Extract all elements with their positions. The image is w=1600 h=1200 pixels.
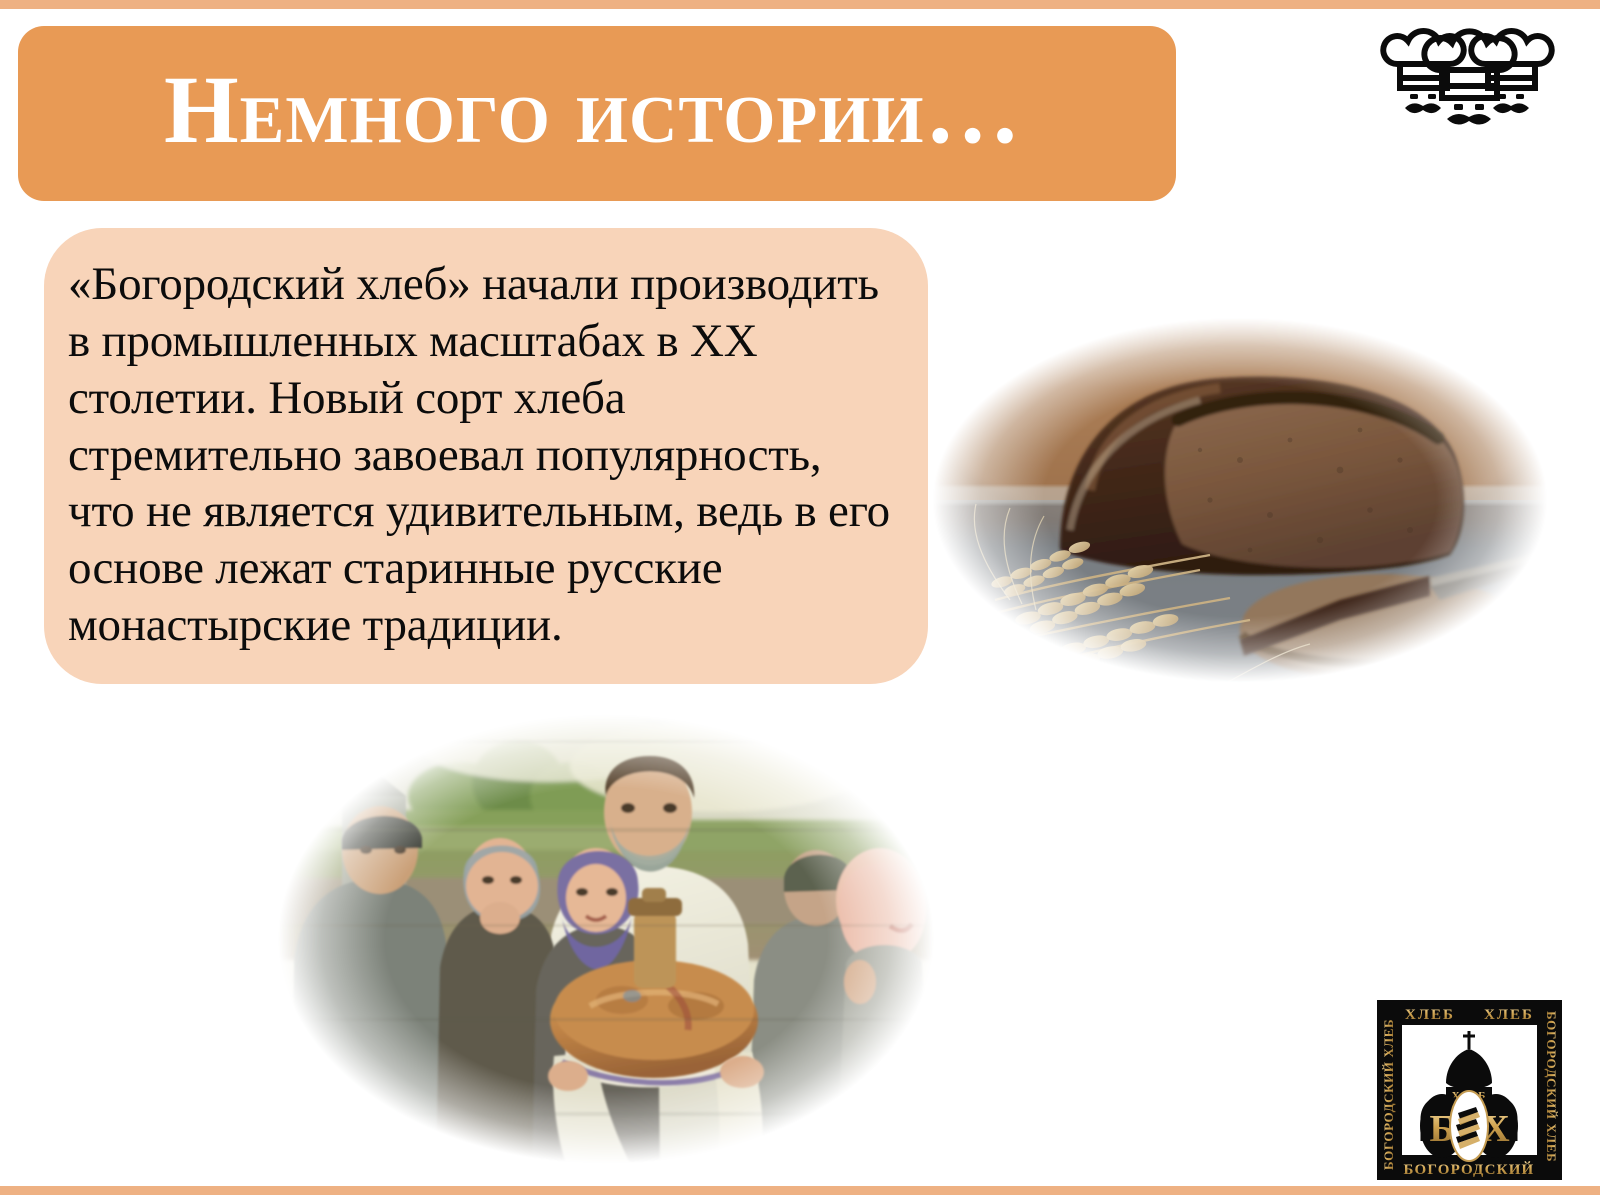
logo-bottom-text: БОГОРОДСКИЙ (1404, 1161, 1535, 1178)
chef-hats-icon (1372, 22, 1562, 126)
title-banner: Немного истории… (18, 26, 1176, 201)
page-title: Немного истории… (164, 62, 1021, 158)
body-paragraph: «Богородский хлеб» начали производить в … (68, 256, 898, 654)
rye-bread-loaf-photo (910, 300, 1570, 700)
bogorodsky-hleb-logo: ХЛЕБ ХЛЕБ БОГОРОДСКИЙ БОГОРОДСКИЙ ХЛЕБ Б… (1372, 995, 1567, 1185)
logo-right-side-text: БОГОРОДСКИЙ ХЛЕБ (1544, 1011, 1559, 1162)
bottom-orange-strip (0, 1186, 1600, 1195)
logo-top-left-word: ХЛЕБ (1405, 1007, 1455, 1023)
logo-left-side-text: БОГОРОДСКИЙ ХЛЕБ (1381, 1019, 1396, 1170)
top-orange-strip (0, 0, 1600, 9)
logo-top-right-word: ХЛЕБ (1484, 1007, 1534, 1023)
body-text-card: «Богородский хлеб» начали производить в … (44, 228, 928, 684)
peasants-with-bread-painting (250, 700, 962, 1178)
